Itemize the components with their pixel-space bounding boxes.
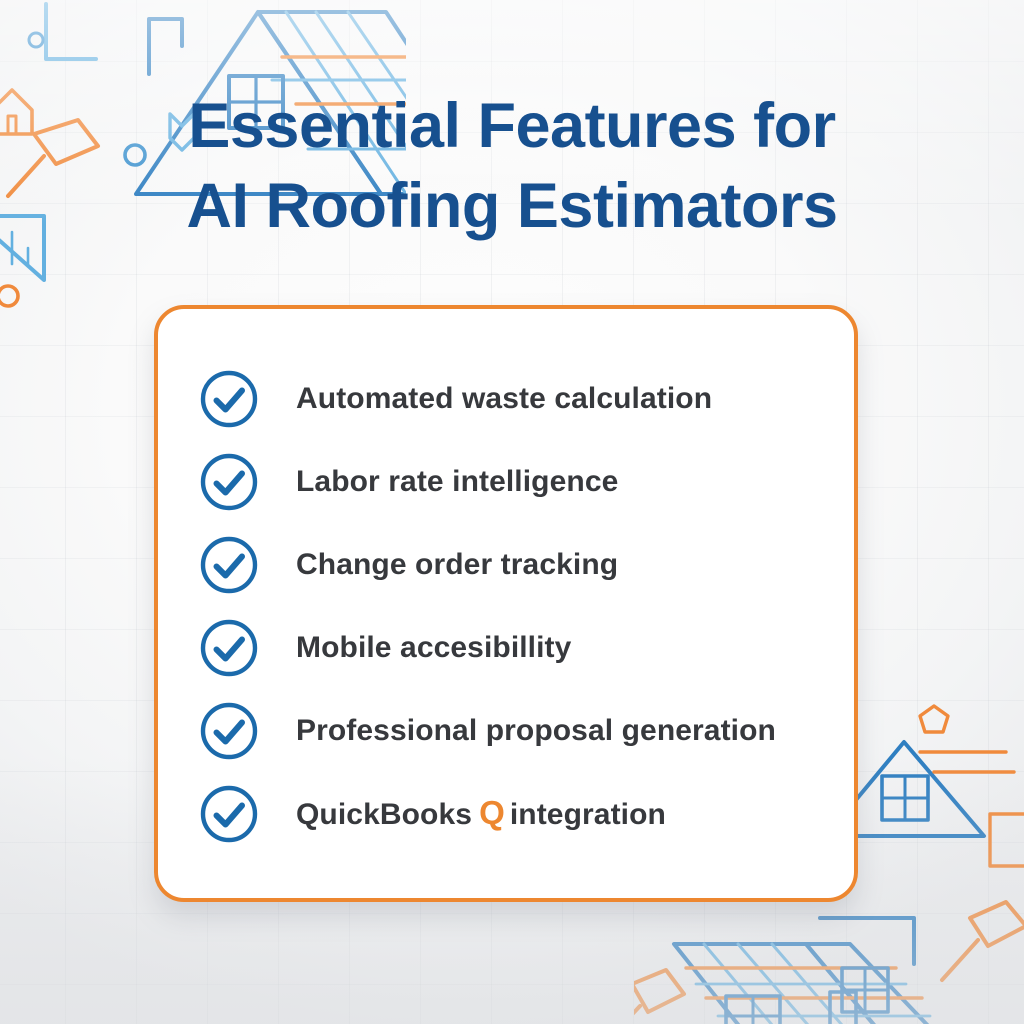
- list-item: Mobile accesibillity: [200, 606, 834, 689]
- feature-label: Change order tracking: [296, 548, 618, 582]
- check-circle-icon: [200, 453, 258, 511]
- check-circle-icon: [200, 702, 258, 760]
- circle-icon: [29, 33, 43, 47]
- list-item: Change order tracking: [200, 523, 834, 606]
- feature-label: Labor rate intelligence: [296, 465, 618, 499]
- circle-icon: [0, 286, 18, 306]
- check-circle-icon: [200, 536, 258, 594]
- check-circle-icon: [200, 619, 258, 677]
- title-line-2: AI Roofing Estimators: [0, 166, 1024, 246]
- quickbooks-logo-icon: Q: [479, 796, 505, 829]
- feature-label-quickbooks: QuickBooks Q integration: [296, 796, 666, 832]
- feature-label: Professional proposal generation: [296, 714, 776, 748]
- feature-label: Mobile accesibillity: [296, 631, 571, 665]
- feature-list: Automated waste calculation Labor rate i…: [200, 357, 834, 855]
- bracket-icon: [46, 4, 96, 59]
- quickbooks-text-before: QuickBooks: [296, 798, 472, 832]
- quickbooks-text-after: integration: [510, 798, 666, 832]
- pentagon-icon: [920, 706, 948, 732]
- list-item: Labor rate intelligence: [200, 440, 834, 523]
- hammer-icon: [634, 970, 684, 1024]
- list-item: Professional proposal generation: [200, 689, 834, 772]
- list-item: Automated waste calculation: [200, 357, 834, 440]
- check-circle-icon: [200, 370, 258, 428]
- title-line-1: Essential Features for: [0, 86, 1024, 166]
- feature-card: Automated waste calculation Labor rate i…: [154, 305, 858, 902]
- page-title: Essential Features for AI Roofing Estima…: [0, 86, 1024, 246]
- list-item: QuickBooks Q integration: [200, 772, 834, 855]
- house-with-solar-roof-icon: [674, 918, 934, 1024]
- feature-label: Automated waste calculation: [296, 382, 712, 416]
- poster-canvas: Essential Features for AI Roofing Estima…: [0, 0, 1024, 1024]
- hammer-icon: [942, 902, 1024, 980]
- check-circle-icon: [200, 785, 258, 843]
